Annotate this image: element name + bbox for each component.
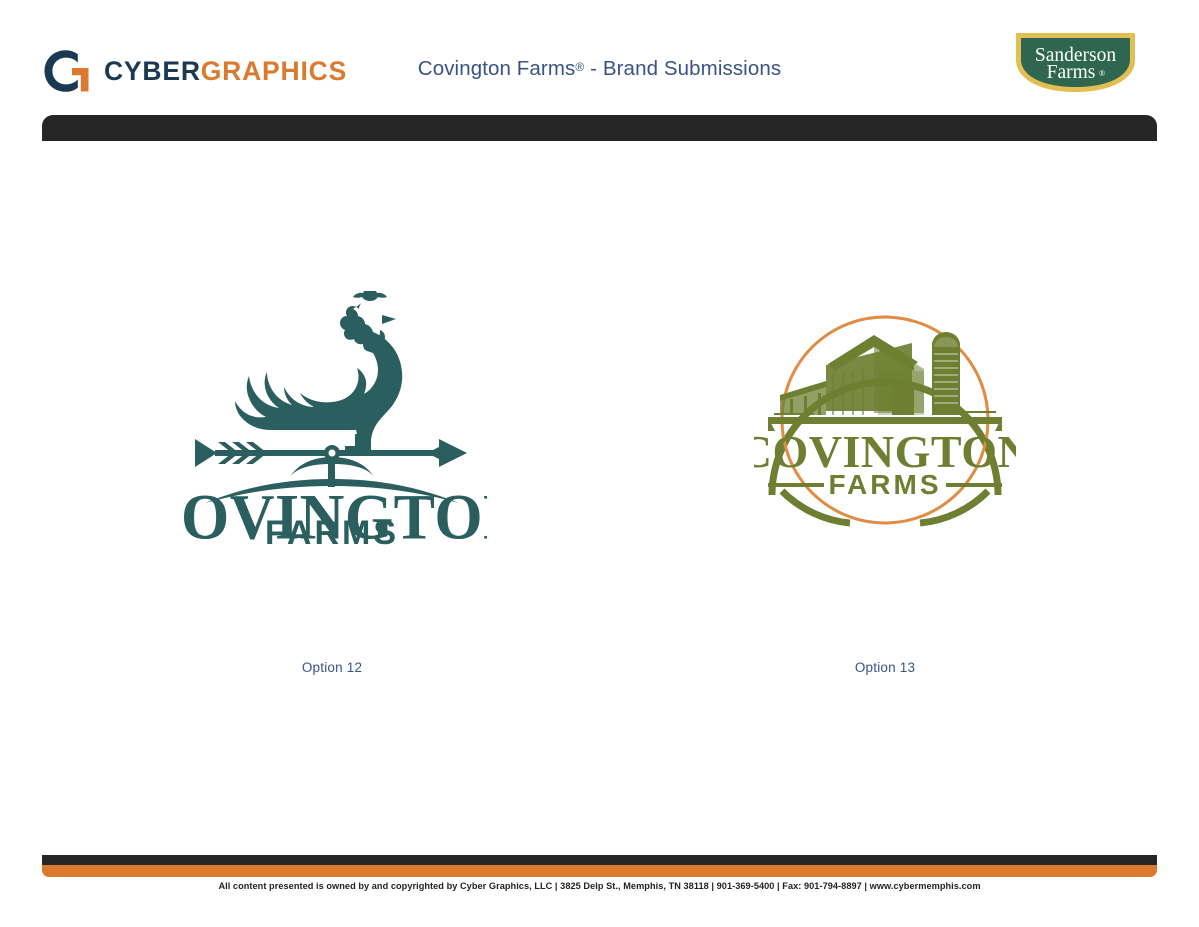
svg-text:FARMS: FARMS (829, 469, 942, 500)
option-card-13[interactable]: COVINGTON FARMS Option 13 (675, 270, 1095, 675)
option-label-12: Option 12 (122, 660, 542, 675)
option-label-13: Option 13 (675, 660, 1095, 675)
footer-copyright-text: All content presented is owned by and co… (0, 881, 1199, 891)
covington-farms-rooster-weathervane-logo[interactable]: COVINGTON FARMS (122, 270, 542, 570)
page-title-main: Covington Farms (418, 57, 576, 80)
footer-rule-bar-dark (42, 855, 1157, 865)
page-title-suffix: - Brand Submissions (584, 57, 781, 80)
sanderson-farms-logo: Sanderson Farms ® (1014, 30, 1137, 95)
option-card-12[interactable]: COVINGTON FARMS Option 12 (122, 270, 542, 675)
covington-farms-barn-badge-logo[interactable]: COVINGTON FARMS (675, 270, 1095, 570)
registered-mark: ® (575, 60, 584, 74)
page-header: CYBERGRAPHICS Covington Farms® - Brand S… (0, 0, 1199, 110)
header-rule-bar (42, 115, 1157, 141)
svg-text:®: ® (1099, 69, 1105, 78)
svg-text:Farms: Farms (1047, 62, 1096, 83)
svg-text:FARMS: FARMS (265, 514, 399, 549)
main-content: COVINGTON FARMS Option 12 (42, 160, 1157, 840)
footer-rule-bar-orange (42, 865, 1157, 877)
